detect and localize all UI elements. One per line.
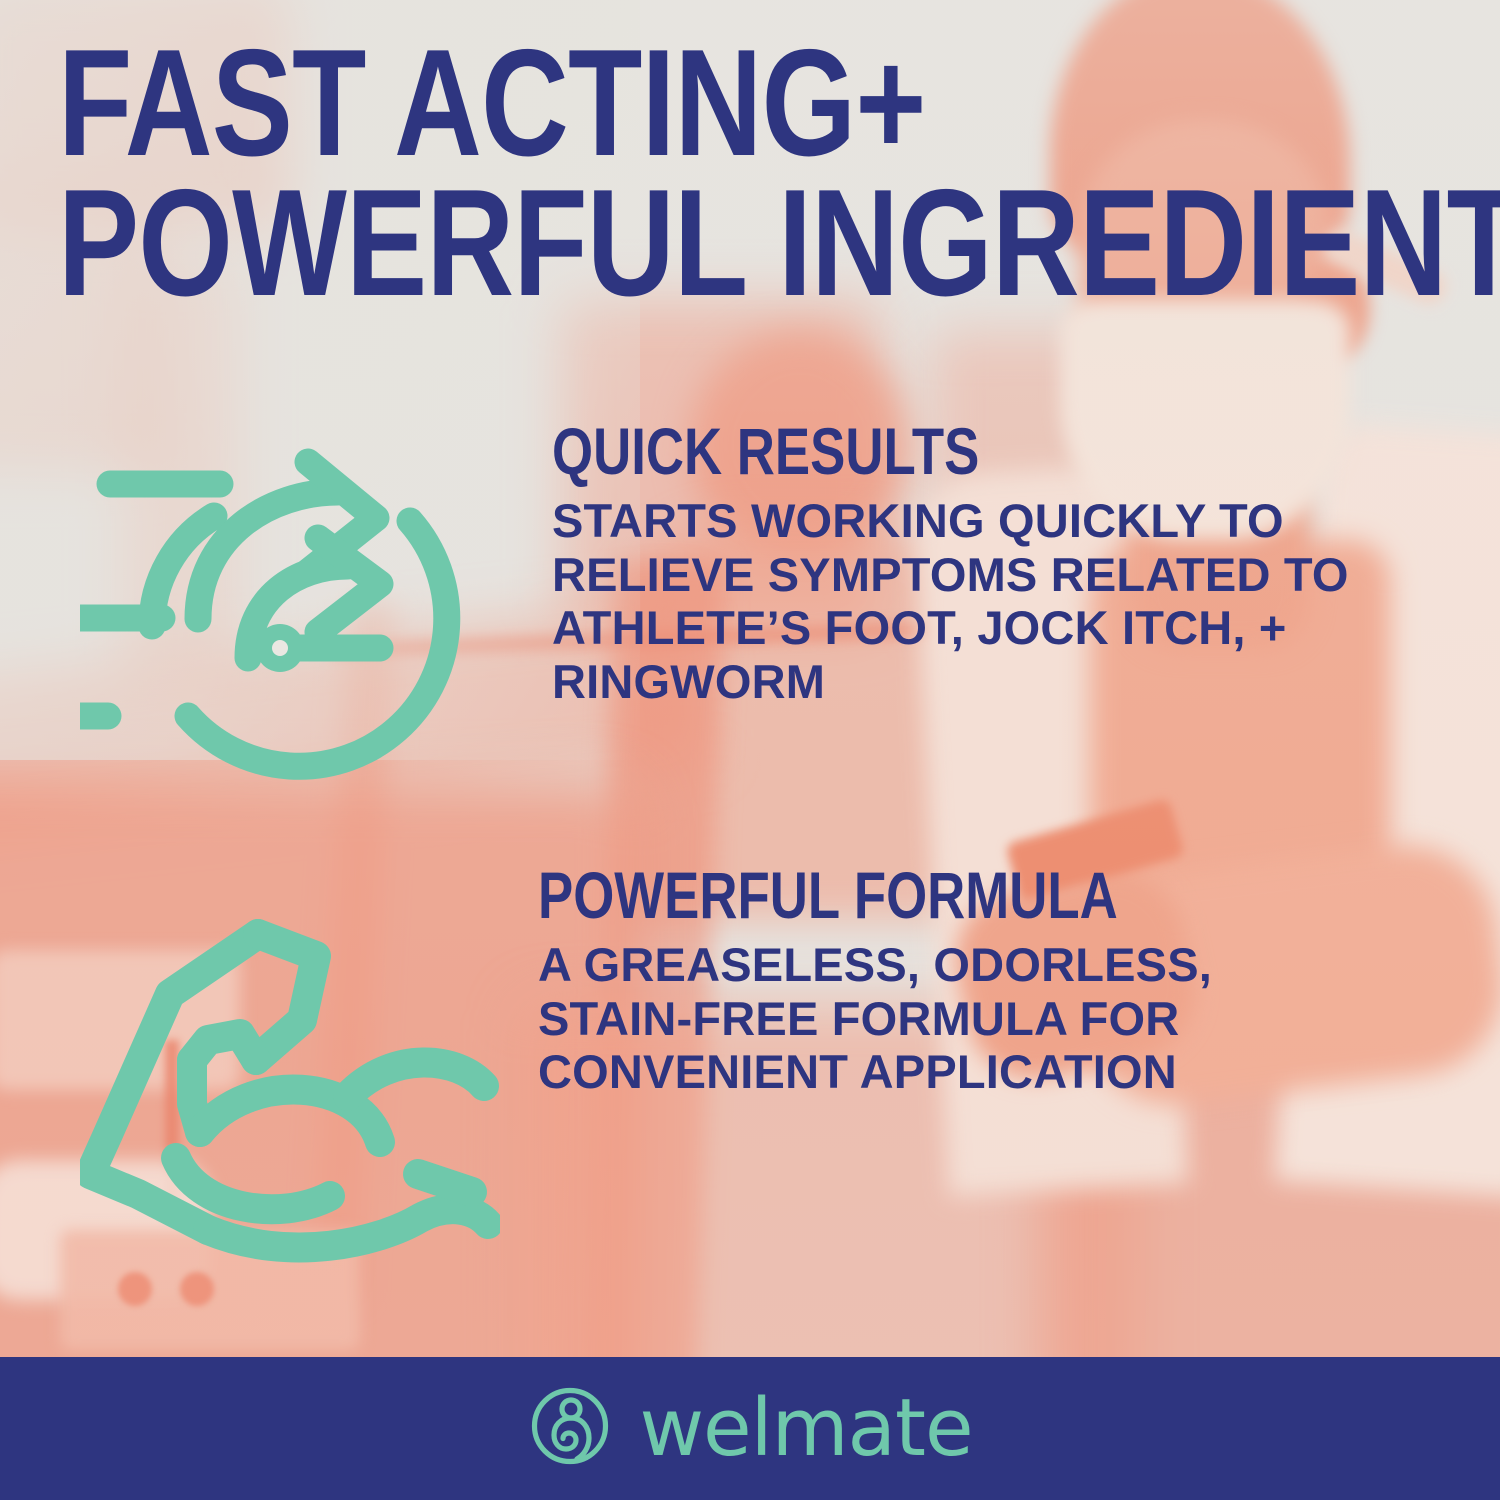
feature-body: STARTS WORKING QUICKLY TO RELIEVE SYMPTO… [552,494,1382,708]
headline-line-1: FAST ACTING+ [58,34,1178,174]
page-title: FAST ACTING+ POWERFUL INGREDIENTS [58,34,1178,314]
feature-quick-results-text: QUICK RESULTS STARTS WORKING QUICKLY TO … [552,418,1382,708]
fast-clock-icon [80,426,480,801]
flexed-bicep-icon [80,874,500,1279]
brand-name: welmate [639,1389,972,1468]
welmate-circle-figure-logo-icon [527,1383,613,1474]
poster-canvas: FAST ACTING+ POWERFUL INGREDIENTS [0,0,1500,1500]
feature-powerful-formula-text: POWERFUL FORMULA A GREASELESS, ODORLESS,… [538,862,1348,1099]
footer-bar: welmate [0,1357,1500,1500]
feature-body: A GREASELESS, ODORLESS, STAIN-FREE FORMU… [538,938,1348,1099]
feature-title: QUICK RESULTS [552,418,1216,484]
feature-title: POWERFUL FORMULA [538,862,1186,928]
brand-logo[interactable]: welmate [527,1383,972,1474]
headline-line-2: POWERFUL INGREDIENTS [58,174,1178,314]
feature-powerful-formula: POWERFUL FORMULA A GREASELESS, ODORLESS,… [80,862,1348,1279]
feature-quick-results: QUICK RESULTS STARTS WORKING QUICKLY TO … [80,418,1382,801]
